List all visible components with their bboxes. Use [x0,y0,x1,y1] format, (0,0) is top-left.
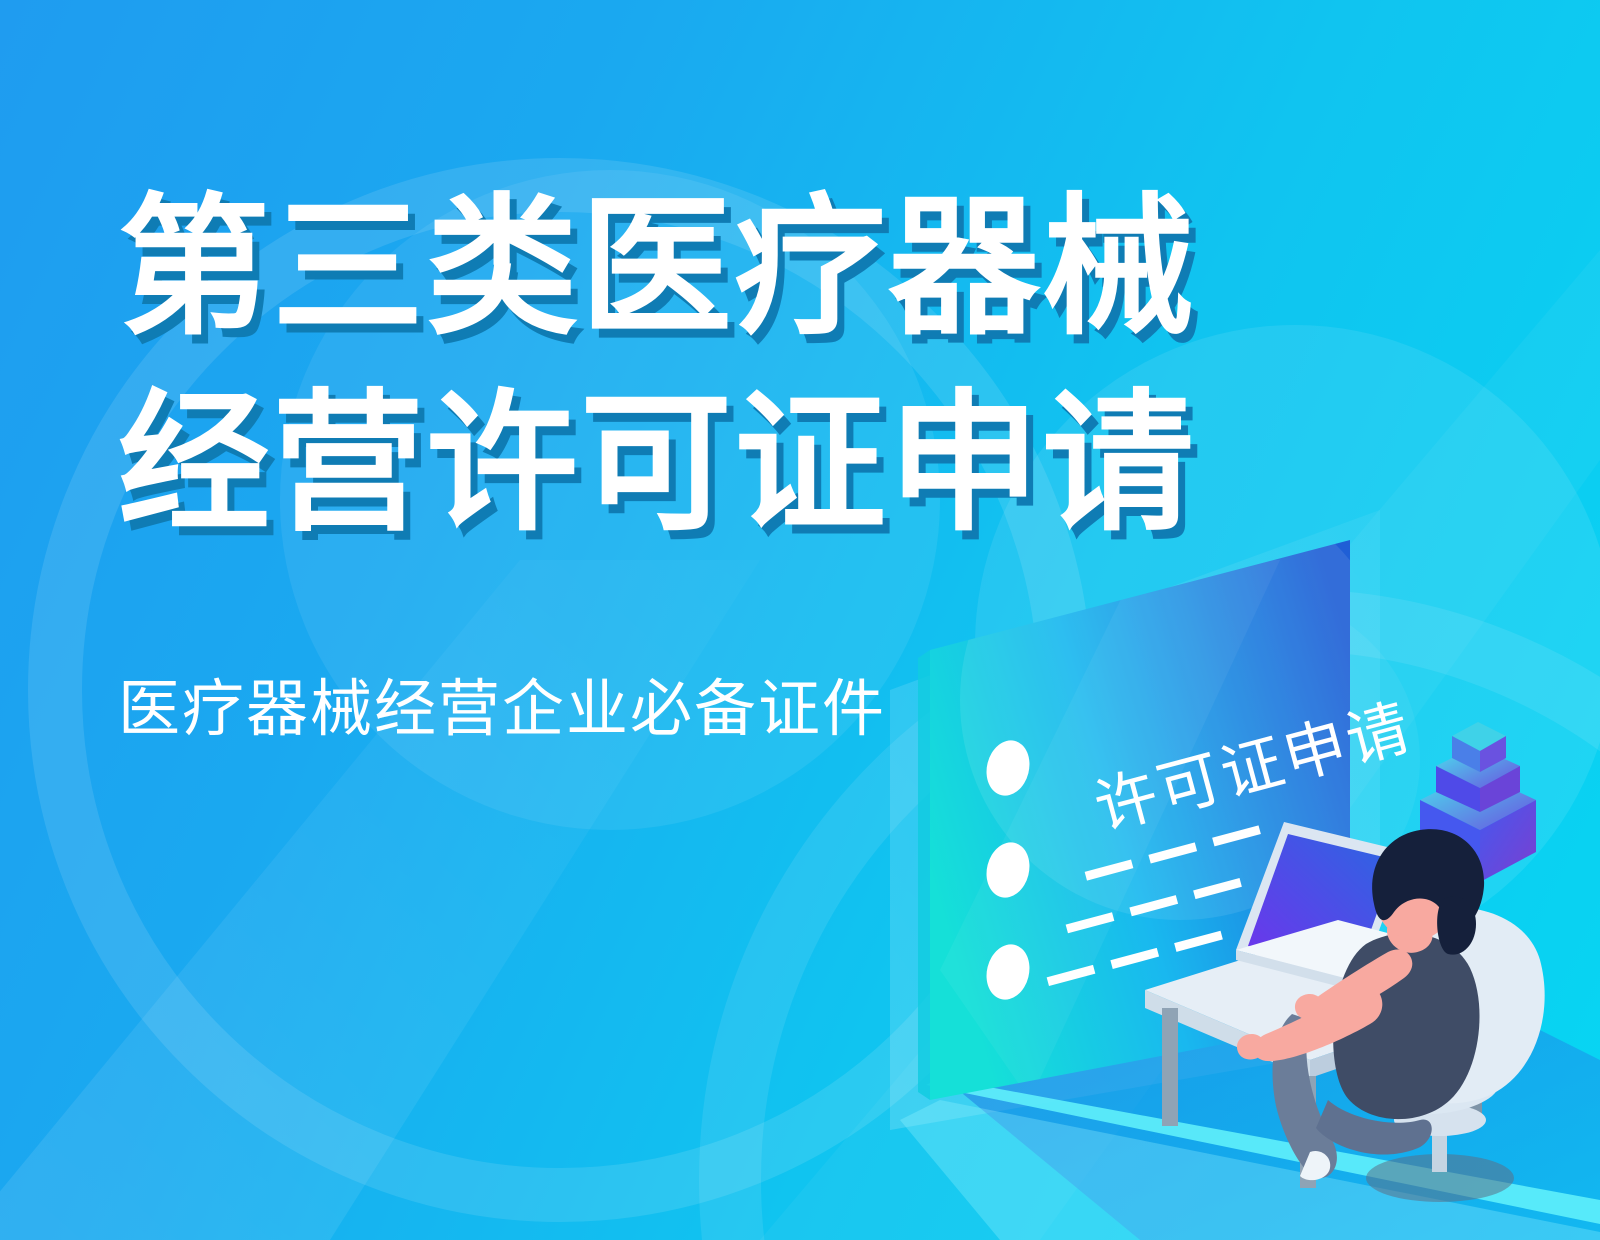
desk-leg-left [1162,1008,1178,1126]
headline-block: 第三类医疗器械 经营许可证申请 医疗器械经营企业必备证件 [118,170,1268,746]
page-title-line-1: 第三类医疗器械 [118,170,1268,366]
panel-bullet-dots [981,736,1035,1004]
page-subtitle: 医疗器械经营企业必备证件 [118,674,1268,746]
page-title-line-2: 经营许可证申请 [118,366,1268,562]
poster-canvas: 第三类医疗器械 经营许可证申请 医疗器械经营企业必备证件 [0,0,1600,1240]
